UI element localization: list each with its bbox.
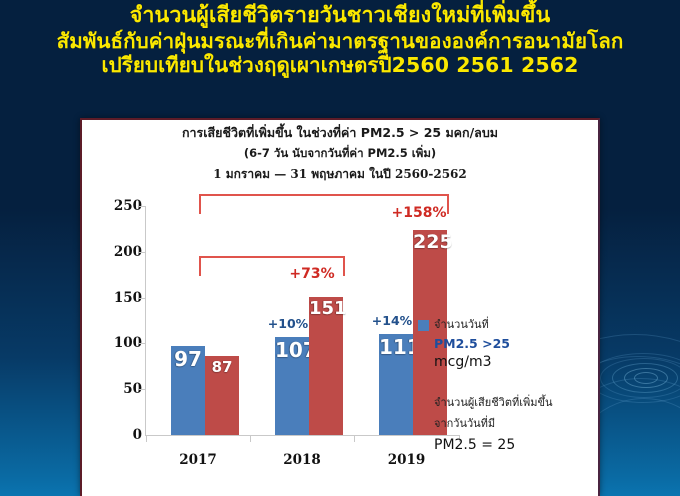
title-line-1: จำนวนผู้เสียชีวิตรายวันชาวเชียงใหม่ที่เพ…	[0, 4, 680, 28]
x-label-2017: 2017	[146, 452, 250, 468]
y-tick-200: 200	[114, 244, 142, 260]
legend-blue-line-1: จำนวนวันที่	[434, 318, 489, 332]
legend-swatch-blue-icon	[418, 320, 429, 331]
x-axis-tick	[250, 435, 251, 442]
legend-swatch-red-icon	[418, 398, 429, 409]
slide-title-block: จำนวนผู้เสียชีวิตรายวันชาวเชียงใหม่ที่เพ…	[0, 4, 680, 77]
bar-red-2018[interactable]: 151	[309, 297, 343, 435]
plot-area: 250 200 150 100 50 0 97	[82, 206, 602, 496]
bar-blue-2017[interactable]: 97	[171, 346, 205, 435]
y-tick-0: 0	[133, 427, 142, 443]
x-axis-tick	[354, 435, 355, 442]
pct-blue-2018: +10%	[264, 316, 312, 331]
y-axis-tick	[139, 252, 145, 253]
bar-value-blue-2018: 107	[275, 338, 309, 362]
chart-heading-line-2: (6-7 วัน นับจากวันที่ค่า PM2.5 เพิ่ม)	[82, 148, 598, 160]
x-label-2018: 2018	[250, 452, 354, 468]
bar-value-red-2017: 87	[205, 358, 239, 376]
pct-blue-2019: +14%	[368, 313, 416, 328]
x-axis-tick	[146, 435, 147, 442]
y-axis-tick	[139, 298, 145, 299]
y-axis-tick	[139, 389, 145, 390]
y-tick-150: 150	[114, 290, 142, 306]
x-label-2019: 2019	[354, 452, 459, 468]
bars-container: 97 87 +10% 107 +73% 151 +14% 111	[146, 206, 460, 435]
chart-legend: จำนวนวันที่ PM2.5 >25 mcg/m3 จำนวนผู้เสี…	[418, 318, 598, 453]
bracket-2017-2019	[199, 194, 449, 214]
y-axis-labels: 250 200 150 100 50 0	[90, 206, 142, 446]
bar-value-blue-2019: 111	[379, 335, 413, 359]
y-tick-250: 250	[114, 198, 142, 214]
bar-value-blue-2017: 97	[171, 347, 205, 371]
bar-blue-2019[interactable]: 111	[379, 334, 413, 435]
bar-blue-2018[interactable]: 107	[275, 337, 309, 435]
y-axis-tick	[139, 343, 145, 344]
y-axis-tick	[139, 206, 145, 207]
legend-blue-line-2: PM2.5 >25	[434, 336, 598, 351]
chart-heading-line-3: 1 มกราคม — 31 พฤษภาคม ในปี 2560-2562	[82, 168, 598, 180]
y-tick-100: 100	[114, 335, 142, 351]
legend-red-line-3: PM2.5 = 25	[434, 437, 598, 453]
legend-item-blue: จำนวนวันที่ PM2.5 >25 mcg/m3	[418, 318, 598, 370]
bar-red-2017[interactable]: 87	[205, 356, 239, 436]
slide-canvas: จำนวนผู้เสียชีวิตรายวันชาวเชียงใหม่ที่เพ…	[0, 0, 680, 496]
chart-heading-line-1: การเสียชีวิตที่เพิ่มขึ้น ในช่วงที่ค่า PM…	[82, 127, 598, 140]
title-line-3: เปรียบเทียบในช่วงฤดูเผาเกษตรปี2560 2561 …	[0, 54, 680, 77]
legend-blue-line-3: mcg/m3	[434, 354, 598, 370]
bar-value-red-2019: 225	[413, 231, 447, 253]
legend-red-line-2: จากวันวันที่มี	[434, 414, 598, 432]
legend-item-red: จำนวนผู้เสียชีวิตที่เพิ่มขึ้น จากวันวันท…	[418, 396, 598, 453]
chart-panel: การเสียชีวิตที่เพิ่มขึ้น ในช่วงที่ค่า PM…	[80, 118, 600, 496]
title-line-2: สัมพันธ์กับค่าฝุ่นมรณะที่เกินค่ามาตรฐานข…	[0, 30, 680, 53]
legend-red-line-1: จำนวนผู้เสียชีวิตที่เพิ่มขึ้น	[434, 396, 553, 410]
chart-heading-block: การเสียชีวิตที่เพิ่มขึ้น ในช่วงที่ค่า PM…	[82, 120, 598, 180]
bar-value-red-2018: 151	[309, 298, 343, 319]
x-axis-line	[145, 435, 460, 436]
bracket-2017-2018	[199, 256, 345, 276]
